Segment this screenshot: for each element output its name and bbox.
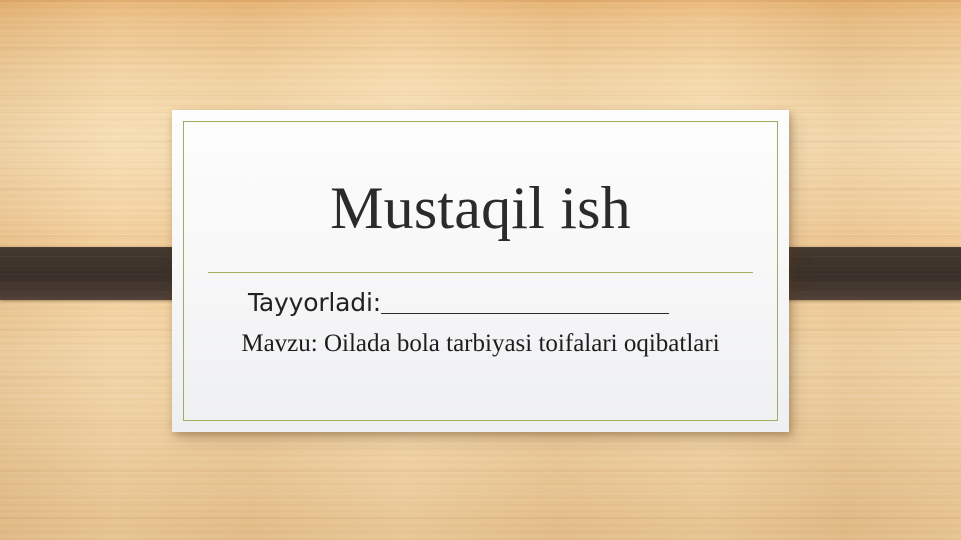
prepared-by-line: Tayyorladi: (202, 286, 759, 320)
slide-title: Mustaqil ish (172, 174, 789, 242)
title-divider-rule (208, 272, 753, 273)
topic-line: Mavzu: Oilada bola tarbiyasi toifalari o… (202, 328, 759, 359)
decorative-band-left (0, 247, 193, 300)
decorative-band-right (766, 247, 961, 300)
prepared-by-label: Tayyorladi: (248, 288, 381, 317)
card-content: Mustaqil ish Tayyorladi: Mavzu: Oilada b… (172, 110, 789, 432)
title-card: Mustaqil ish Tayyorladi: Mavzu: Oilada b… (172, 110, 789, 432)
presentation-slide: Mustaqil ish Tayyorladi: Mavzu: Oilada b… (0, 0, 961, 540)
prepared-by-blank-field[interactable] (381, 291, 669, 314)
subtitle-block: Tayyorladi: Mavzu: Oilada bola tarbiyasi… (202, 286, 759, 359)
